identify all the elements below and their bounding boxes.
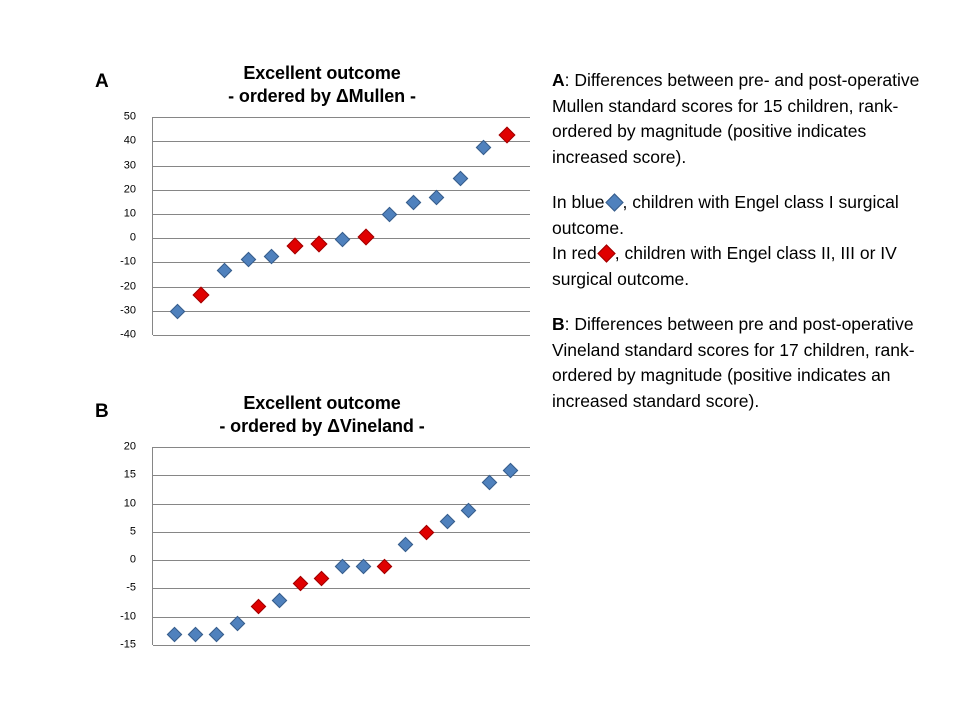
- legend-red-text-pre: In red: [552, 243, 597, 263]
- caption-gap-2: [552, 292, 924, 312]
- chart-a-gridline: [153, 287, 530, 288]
- chart-a-y-tick-label: 10: [124, 208, 136, 219]
- chart-b-data-point-blue: [481, 474, 497, 490]
- caption-b-body: : Differences between pre and post-opera…: [552, 314, 915, 411]
- chart-b-gridline: [153, 645, 530, 646]
- chart-b-gridline: [153, 588, 530, 589]
- chart-b-title: Excellent outcome - ordered by ΔVineland…: [114, 392, 530, 438]
- chart-a-data-point-blue: [240, 252, 256, 268]
- chart-a-y-tick-label: 50: [124, 112, 136, 123]
- caption-a-lead: A: [552, 70, 565, 90]
- chart-b-y-tick-label: 0: [130, 555, 136, 566]
- chart-a-gridline: [153, 117, 530, 118]
- chart-a-data-point-blue: [382, 207, 398, 223]
- chart-b-data-point-red: [377, 559, 393, 575]
- chart-b-gridline: [153, 617, 530, 618]
- chart-a-gridline: [153, 141, 530, 142]
- caption-b: B: Differences between pre and post-oper…: [552, 312, 924, 414]
- chart-a-title: Excellent outcome - ordered by ΔMullen -: [114, 62, 530, 108]
- chart-a-y-tick-label: 40: [124, 136, 136, 147]
- chart-a-gridline: [153, 262, 530, 263]
- chart-a-y-tick-label: 0: [130, 233, 136, 244]
- chart-a-data-point-blue: [170, 304, 186, 320]
- caption-gap-1: [552, 170, 924, 190]
- caption-b-lead: B: [552, 314, 565, 334]
- red-diamond-icon: [597, 245, 615, 263]
- legend-blue-text-pre: In blue: [552, 192, 605, 212]
- chart-b-y-tick-label: -15: [120, 640, 136, 651]
- chart-a-title-line2: - ordered by ΔMullen -: [114, 85, 530, 108]
- chart-b-gridline: [153, 447, 530, 448]
- chart-b-gridline: [153, 532, 530, 533]
- chart-a-y-tick-label: 20: [124, 184, 136, 195]
- caption-legend-red: In red, children with Engel class II, II…: [552, 241, 924, 292]
- chart-b-y-tick-label: 20: [124, 442, 136, 453]
- chart-a-plot-area: [152, 117, 530, 335]
- chart-a-data-point-blue: [335, 231, 351, 247]
- chart-b-data-point-blue: [356, 559, 372, 575]
- chart-b: Excellent outcome - ordered by ΔVineland…: [100, 392, 530, 682]
- chart-a-data-point-red: [287, 238, 304, 255]
- chart-b-data-point-blue: [188, 627, 204, 643]
- chart-b-y-tick-label: -5: [126, 583, 136, 594]
- chart-b-data-point-red: [314, 570, 330, 586]
- chart-a-data-point-red: [358, 228, 375, 245]
- chart-b-data-point-blue: [167, 627, 183, 643]
- caption-a-body: : Differences between pre- and post-oper…: [552, 70, 919, 167]
- chart-a-plot: 50403020100-10-20-30-40: [100, 117, 530, 335]
- chart-b-data-point-blue: [230, 616, 246, 632]
- chart-a-y-tick-label: -20: [120, 281, 136, 292]
- chart-a-data-point-blue: [217, 263, 233, 279]
- figure-canvas: A Excellent outcome - ordered by ΔMullen…: [0, 0, 960, 720]
- chart-b-y-axis: 20151050-5-10-15: [100, 447, 140, 645]
- chart-a-y-axis: 50403020100-10-20-30-40: [100, 117, 140, 335]
- blue-diamond-icon: [605, 193, 623, 211]
- chart-b-y-tick-label: 15: [124, 470, 136, 481]
- chart-b-y-tick-label: 10: [124, 498, 136, 509]
- chart-b-data-point-blue: [398, 536, 414, 552]
- chart-a-gridline: [153, 335, 530, 336]
- caption-a: A: Differences between pre- and post-ope…: [552, 68, 924, 170]
- chart-a-data-point-red: [193, 286, 210, 303]
- chart-a-y-tick-label: 30: [124, 160, 136, 171]
- chart-a-gridline: [153, 166, 530, 167]
- chart-b-data-point-red: [418, 525, 434, 541]
- chart-b-y-tick-label: 5: [130, 526, 136, 537]
- chart-a-gridline: [153, 190, 530, 191]
- chart-a-y-tick-label: -40: [120, 330, 136, 341]
- chart-a-gridline: [153, 214, 530, 215]
- chart-b-data-point-blue: [335, 559, 351, 575]
- chart-b-title-line2: - ordered by ΔVineland -: [114, 415, 530, 438]
- chart-a-data-point-blue: [453, 171, 469, 187]
- chart-a-data-point-blue: [405, 195, 421, 211]
- chart-b-plot: 20151050-5-10-15: [100, 447, 530, 645]
- chart-a-y-tick-label: -30: [120, 305, 136, 316]
- chart-b-gridline: [153, 475, 530, 476]
- caption-legend-blue: In blue, children with Engel class I sur…: [552, 190, 924, 241]
- chart-b-plot-area: [152, 447, 530, 645]
- chart-b-gridline: [153, 504, 530, 505]
- chart-a-gridline: [153, 311, 530, 312]
- chart-b-y-tick-label: -10: [120, 611, 136, 622]
- chart-b-title-line1: Excellent outcome: [243, 393, 400, 413]
- chart-a: Excellent outcome - ordered by ΔMullen -…: [100, 62, 530, 362]
- chart-b-data-point-blue: [209, 627, 225, 643]
- chart-a-data-point-blue: [429, 190, 445, 206]
- chart-b-data-point-red: [251, 599, 267, 615]
- chart-b-data-point-blue: [460, 503, 476, 519]
- caption-column: A: Differences between pre- and post-ope…: [552, 68, 924, 415]
- chart-b-data-point-blue: [272, 593, 288, 609]
- chart-a-y-tick-label: -10: [120, 257, 136, 268]
- chart-a-title-line1: Excellent outcome: [243, 63, 400, 83]
- chart-b-data-point-blue: [439, 514, 455, 530]
